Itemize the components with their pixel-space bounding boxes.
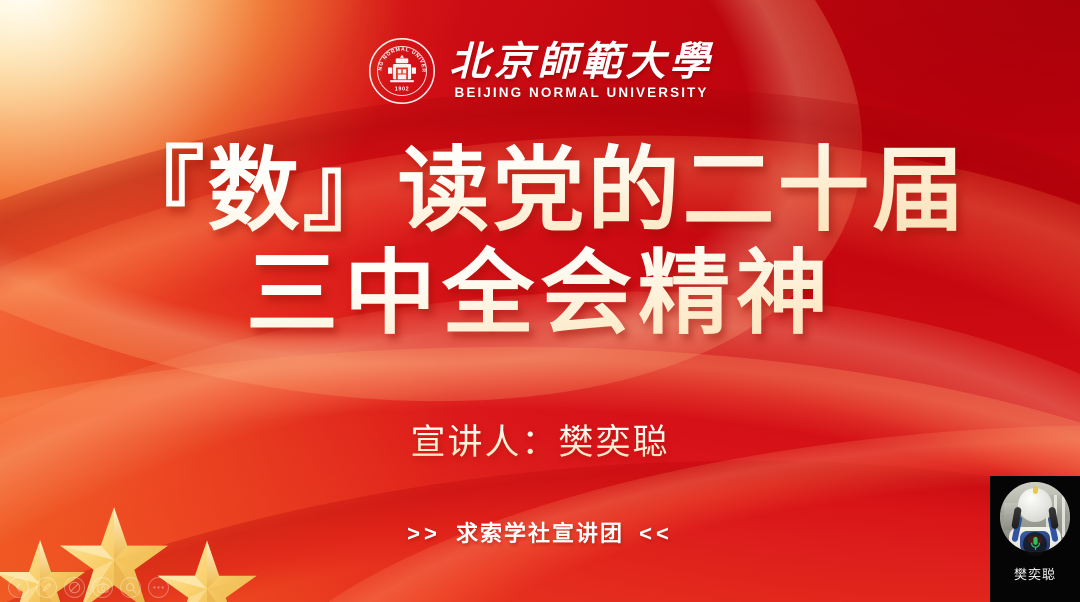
- microphone-icon[interactable]: [1023, 532, 1047, 556]
- screenshot-button[interactable]: [92, 577, 113, 598]
- ellipsis-icon: [152, 585, 165, 590]
- pen-icon: [41, 582, 52, 593]
- participant-name: 樊奕聪: [990, 564, 1080, 583]
- presenter-label: 宣讲人：樊奕聪: [0, 414, 1080, 465]
- organization-line: >> 求索学社宣讲团 <<: [0, 516, 1080, 548]
- more-button[interactable]: [148, 577, 169, 598]
- pen-button[interactable]: [36, 577, 57, 598]
- logo-text-block: 北京師範大學 BEIJING NORMAL UNIVERSITY: [450, 42, 714, 100]
- organization-name: 求索学社宣讲团: [449, 521, 631, 546]
- logo-name-cn: 北京師範大學: [450, 42, 714, 83]
- zoom-button[interactable]: [120, 577, 141, 598]
- title-line-2: 三中全会精神: [0, 239, 1080, 348]
- back-button[interactable]: [8, 577, 29, 598]
- university-logo: BEIJING NORMAL UNIVERSITY 1902 北京師範大學 BE…: [0, 36, 1080, 106]
- title-line-1: 『数』读党的二十届: [0, 136, 1080, 245]
- no-draw-button[interactable]: [64, 577, 85, 598]
- chevron-right-decoration: >>: [407, 521, 441, 546]
- logo-name-en: BEIJING NORMAL UNIVERSITY: [454, 85, 708, 100]
- magnifier-icon: [125, 582, 137, 594]
- chevron-left-decoration: <<: [639, 521, 673, 546]
- chevron-left-icon: [14, 583, 23, 592]
- annotation-toolbar[interactable]: [8, 577, 169, 598]
- university-seal-icon: BEIJING NORMAL UNIVERSITY 1902: [367, 36, 437, 106]
- camera-icon: [97, 582, 109, 593]
- video-participant-tile[interactable]: 樊奕聪: [990, 476, 1080, 602]
- seal-year-text: 1902: [394, 87, 409, 93]
- presentation-slide: BEIJING NORMAL UNIVERSITY 1902 北京師範大學 BE…: [0, 0, 1080, 602]
- microphone-glyph: [1029, 536, 1042, 552]
- slash-circle-icon: [68, 581, 81, 594]
- slide-title: 『数』读党的二十届 三中全会精神: [0, 136, 1080, 347]
